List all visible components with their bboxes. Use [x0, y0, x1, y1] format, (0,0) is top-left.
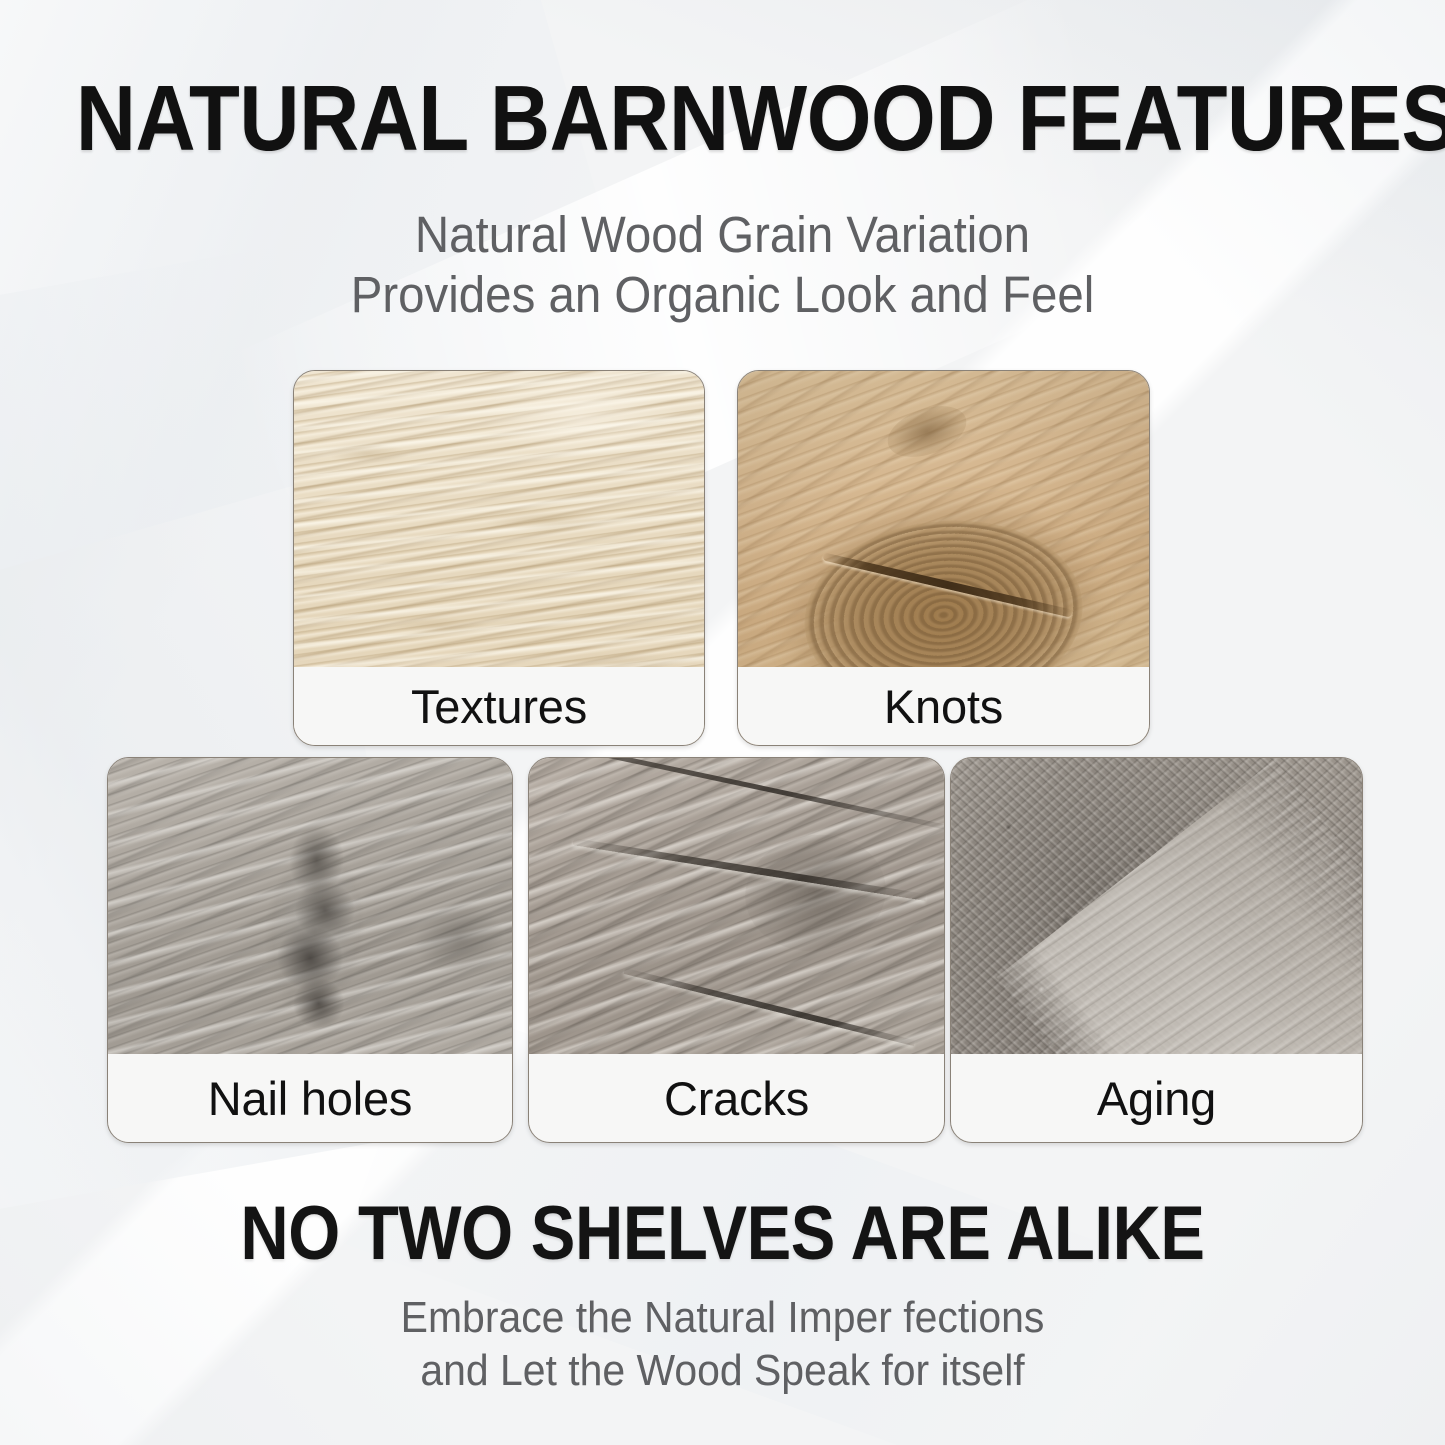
card-label-cracks: Cracks	[529, 1054, 944, 1142]
subtitle: Natural Wood Grain Variation Provides an…	[51, 205, 1395, 325]
card-label-aging: Aging	[951, 1054, 1362, 1142]
tagline-line-1: Embrace the Natural Imper fections	[51, 1292, 1395, 1345]
subtitle-line-2: Provides an Organic Look and Feel	[51, 265, 1395, 325]
nail-holes-hole	[252, 815, 376, 1047]
feature-card-cracks[interactable]: Cracks	[528, 757, 945, 1143]
subtitle-line-1: Natural Wood Grain Variation	[51, 205, 1395, 265]
feature-card-knots[interactable]: Knots	[737, 370, 1150, 746]
card-label-nail-holes: Nail holes	[108, 1054, 512, 1142]
feature-card-nail-holes[interactable]: Nail holes	[107, 757, 513, 1143]
infographic-canvas: NATURAL BARNWOOD FEATURES Natural Wood G…	[0, 0, 1445, 1445]
card-label-textures: Textures	[294, 667, 704, 745]
page-title: NATURAL BARNWOOD FEATURES	[76, 72, 1369, 165]
card-label-knots: Knots	[738, 667, 1149, 745]
closing-title: NO TWO SHELVES ARE ALIKE	[87, 1196, 1359, 1272]
feature-card-textures[interactable]: Textures	[293, 370, 705, 746]
tagline: Embrace the Natural Imper fections and L…	[51, 1292, 1395, 1398]
feature-card-aging[interactable]: Aging	[950, 757, 1363, 1143]
tagline-line-2: and Let the Wood Speak for itself	[51, 1345, 1395, 1398]
